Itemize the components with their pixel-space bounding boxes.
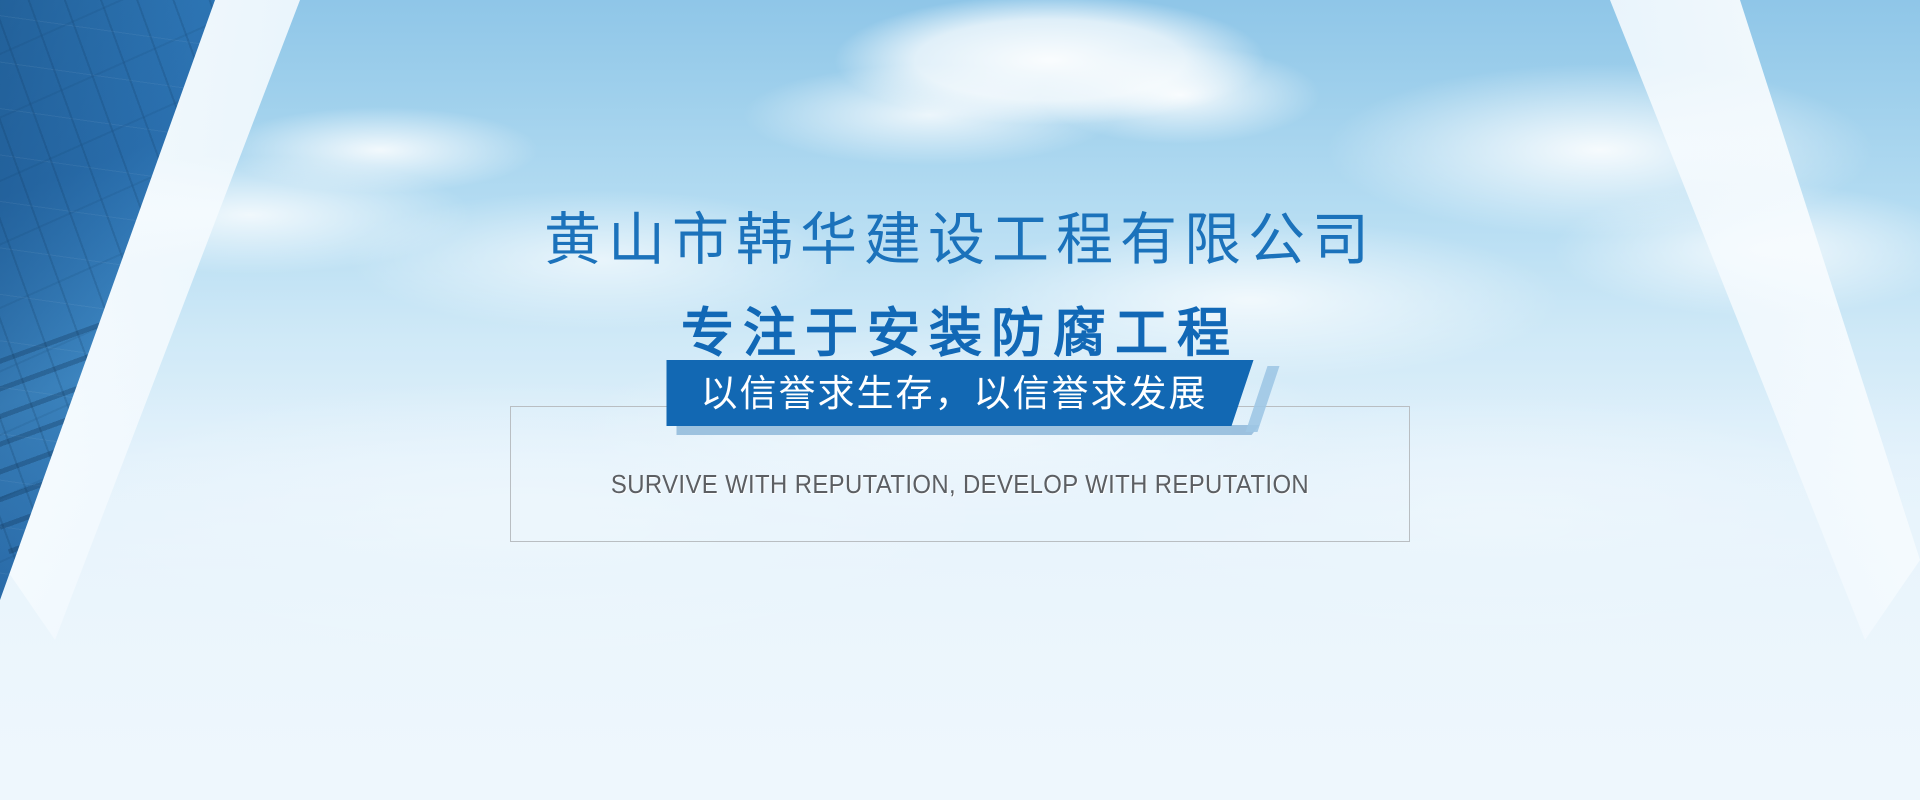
slogan-ribbon: 以信誉求生存，以信誉求发展 [667,360,1254,426]
slogan-en-text: SURVIVE WITH REPUTATION, DEVELOP WITH RE… [547,469,1373,500]
ribbon-tail [1246,366,1280,432]
slogan-cn-text: 以信誉求生存，以信誉求发展 [701,375,1208,412]
ribbon-body: 以信誉求生存，以信誉求发展 [667,360,1254,426]
ribbon-shadow [677,425,1260,435]
slogan-frame: 以信誉求生存，以信誉求发展 SURVIVE WITH REPUTATION, D… [510,406,1410,542]
banner-content: 黄山市韩华建设工程有限公司 专注于安装防腐工程 以信誉求生存，以信誉求发展 SU… [0,0,1920,800]
company-tagline: 专注于安装防腐工程 [681,307,1239,360]
company-name-title: 黄山市韩华建设工程有限公司 [544,212,1376,269]
hero-banner: 黄山市韩华建设工程有限公司 专注于安装防腐工程 以信誉求生存，以信誉求发展 SU… [0,0,1920,800]
